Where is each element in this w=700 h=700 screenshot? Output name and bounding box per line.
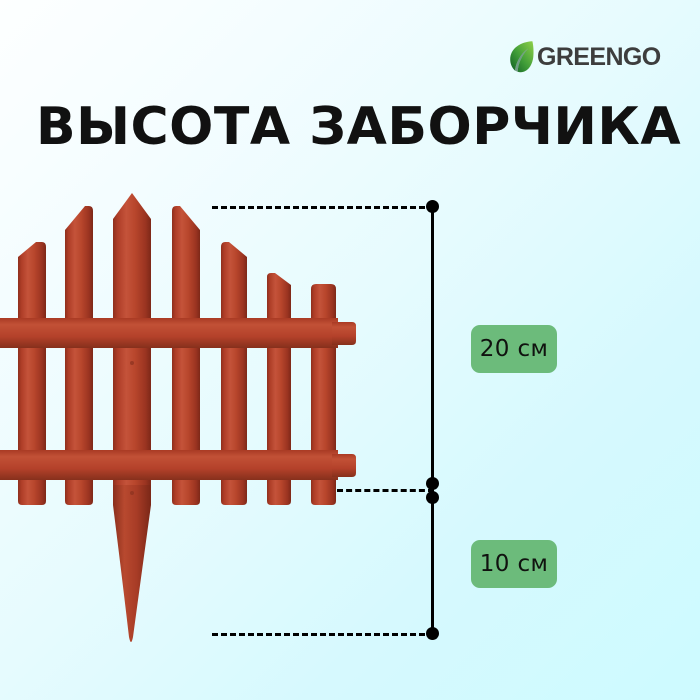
- fence-product-image: [0, 185, 380, 655]
- product-infographic: GREENGO ВЫСОТА ЗАБОРЧИКА: [0, 0, 700, 700]
- dimension-endpoint-middle-upper: [426, 477, 439, 490]
- page-title: ВЫСОТА ЗАБОРЧИКА: [36, 97, 681, 157]
- dimension-endpoint-top: [426, 200, 439, 213]
- dimension-label-10cm: 10 см: [471, 540, 557, 588]
- dimension-line-20cm: [431, 206, 434, 490]
- dimension-endpoint-middle-lower: [426, 491, 439, 504]
- dimension-line-10cm: [431, 489, 434, 634]
- rail-upper-connector-tab: [332, 322, 356, 345]
- dimension-endpoint-bottom: [426, 627, 439, 640]
- dimension-leader-bottom: [212, 633, 434, 636]
- dimension-label-20cm: 20 см: [471, 325, 557, 373]
- mould-pip-bottom: [130, 491, 134, 495]
- rail-lower: [0, 450, 338, 480]
- dimension-leader-middle: [337, 489, 434, 492]
- leaf-icon: [508, 40, 534, 74]
- rail-upper: [0, 318, 338, 348]
- ground-spike: [113, 485, 151, 642]
- brand-logo: GREENGO: [508, 40, 661, 74]
- brand-name: GREENGO: [537, 45, 661, 70]
- dimension-leader-top: [212, 206, 434, 209]
- rail-lower-connector-tab: [332, 454, 356, 477]
- mould-pip-top: [130, 361, 134, 365]
